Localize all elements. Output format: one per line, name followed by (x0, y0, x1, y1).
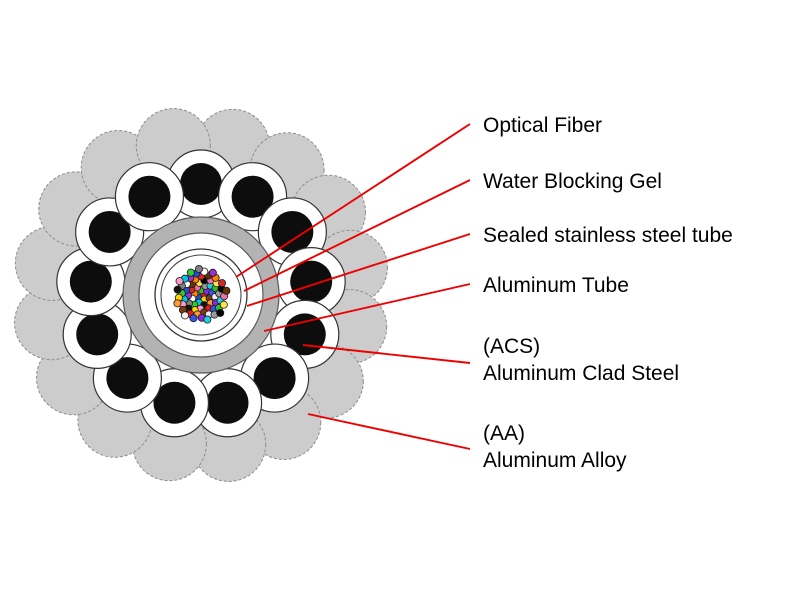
label-aluminum-alloy-line2: Aluminum Alloy (483, 449, 627, 472)
optical-fiber-strand (217, 309, 224, 316)
optical-fiber-strand (176, 277, 183, 284)
acs-wire-steel-core (180, 163, 222, 205)
acs-wire-steel-core (128, 176, 170, 218)
acs-wire-steel-core (76, 313, 118, 355)
acs-wire-steel-core (271, 211, 313, 253)
cable-diagram-svg: Optical FiberWater Blocking GelSealed st… (0, 0, 800, 600)
optical-fiber-strand (204, 316, 211, 323)
label-aluminum-clad-steel: (ACS) (483, 335, 540, 358)
label-sealed-stainless-steel-tube: Sealed stainless steel tube (483, 224, 733, 247)
optical-fiber-strand (195, 265, 202, 272)
label-aluminum-tube: Aluminum Tube (483, 274, 629, 297)
label-water-blocking-gel: Water Blocking Gel (483, 170, 662, 193)
label-aluminum-clad-steel-line2: Aluminum Clad Steel (483, 362, 679, 385)
optical-fiber-strand (220, 301, 227, 308)
cable-cross-section-diagram: Optical FiberWater Blocking GelSealed st… (0, 0, 800, 600)
optical-fiber-strand (174, 300, 181, 307)
optical-fiber-strand (181, 312, 188, 319)
label-texts: Optical FiberWater Blocking GelSealed st… (483, 114, 733, 472)
label-aluminum-alloy: (AA) (483, 422, 525, 445)
acs-wire-steel-core (290, 261, 332, 303)
optical-fiber-strand (187, 269, 194, 276)
optical-fiber-strand (223, 287, 230, 294)
acs-wire-steel-core (70, 261, 112, 303)
leader-line-aluminum-alloy (308, 414, 470, 449)
optical-fiber-strand (218, 279, 225, 286)
optical-fiber-strand (209, 269, 216, 276)
label-optical-fiber: Optical Fiber (483, 114, 602, 137)
optical-fiber-strand (190, 315, 197, 322)
optical-fiber-strand (174, 286, 181, 293)
acs-wire-steel-core (207, 382, 249, 424)
